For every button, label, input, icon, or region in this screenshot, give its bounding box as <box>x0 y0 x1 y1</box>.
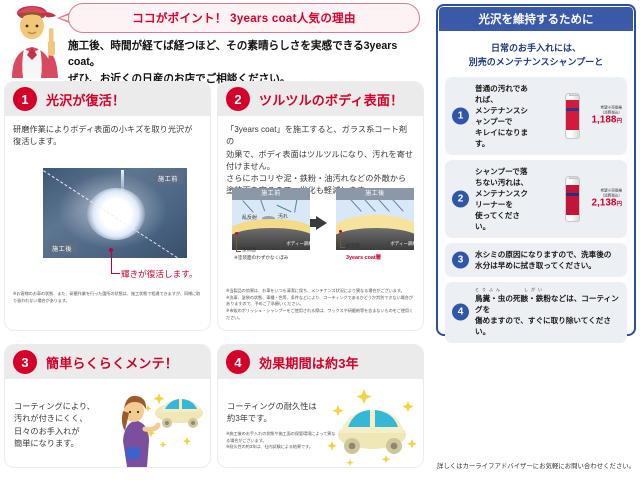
panel-1-title: 光沢が復活！ <box>46 90 125 109</box>
panel-3-badge: 3 <box>13 350 37 374</box>
price-unit-2: 円 <box>616 202 622 208</box>
maintenance-lead-1: 日常のお手入れには、 <box>442 41 630 55</box>
after-surface-tag: ボディー鋼板 <box>388 241 414 247</box>
panel-1-text: 研磨作業によりボディ表面の小キズを取り光沢が復活します。 <box>13 124 199 149</box>
maintenance-item-3-text-1: 水シミの原因になりますので、洗車後の <box>475 249 621 260</box>
label-diffuse-reflection: 乱反射 <box>242 214 257 221</box>
maintenance-item-2-price-block: 希望小売価格 （消費税込） 2,138円 <box>591 188 622 209</box>
photo-streak <box>121 170 124 198</box>
maintenance-item-2-text-2: メンテナンスクリーナーを <box>475 188 531 210</box>
panel-4-title: 効果期間は約3年 <box>259 353 359 372</box>
panel-2-header: 2 ツルツルのボディ表面！ <box>218 82 423 116</box>
panel-2-body: 「3years coat」を施工すると、ガラス系コート剤の 効果で、ボディ表面は… <box>218 116 423 330</box>
maintenance-lead-2: 別売のメンテナンスシャンプーと <box>442 55 630 69</box>
photo-tag-before: 施工前 <box>153 172 183 184</box>
panel-3-text-4: 簡単になります。 <box>14 438 104 450</box>
transition-arrow-icon <box>316 216 327 230</box>
panel-4-note-1: ※施工後のお手入れの状態や施工面の保管環境によって異なる場合がございます。 <box>226 431 336 444</box>
panel-4-note-2: ※耐久性の約3年は、社内試験による結果です。 <box>226 444 336 451</box>
maintenance-item-1-text-2: メンテナンスシャンプーで <box>475 105 531 127</box>
panel-2-note-3: ※市販のポリッシュ・シャンプーをご使用される際は、ワックスや研磨剤等を含まないも… <box>226 308 416 321</box>
panel-2-note-2: ※洗車、塗装の状態、車種・色等、条件などにより、コーティングであるかどうか判別で… <box>226 295 416 308</box>
shiny-car-illustration <box>324 383 420 467</box>
panel-1-header: 1 光沢が復活！ <box>5 82 210 116</box>
panel-1-body: 研磨作業によりボディ表面の小キズを取り光沢が復活します。 施工前 施工後 輝きが… <box>5 116 210 330</box>
maintenance-item-4-furigana: とりふん しがい <box>475 288 621 292</box>
panel-3-text: コーティングにより、 汚れが付きにくく、 日々のお手入れが 簡単になります。 <box>14 401 104 450</box>
maintenance-item-2: 2 シャンプーで落ちない汚れは、 メンテナンスクリーナーを 使ってください。 希… <box>445 160 627 238</box>
cleaner-bottle-image <box>565 176 580 222</box>
panel-2-title: ツルツルのボディ表面！ <box>259 90 403 109</box>
callout-text: 輝きが復活します。 <box>121 268 197 280</box>
bottle-stripe <box>566 108 579 111</box>
panel-4-body: コーティングの耐久性は 約3年です。 ※施工後のお手入れの状態や施工面の保管環境… <box>218 379 423 467</box>
panel-3-text-2: 汚れが付きにくく、 <box>14 413 104 425</box>
maintenance-item-4: 4 とりふん しがい 鳥糞・虫の死骸・鉄粉などは、コーティングを 傷めますので、… <box>445 282 627 343</box>
maintenance-item-2-badge: 2 <box>452 190 469 207</box>
maintenance-item-4-text-1: 鳥糞・虫の死骸・鉄粉などは、コーティングを <box>475 293 621 315</box>
label-paint-surface-right: 塗装面 <box>346 243 360 249</box>
panel-4-notes: ※施工後のお手入れの状態や施工面の保管環境によって異なる場合がございます。 ※耐… <box>226 431 336 451</box>
price-unit-1: 円 <box>616 119 622 125</box>
panel-3-header: 3 簡単らくらくメンテ！ <box>5 345 210 379</box>
leader-line-left <box>236 234 237 252</box>
maintenance-item-2-price: 2,138円 <box>591 198 622 209</box>
maintenance-item-2-text-3: 使ってください。 <box>475 210 531 232</box>
maintenance-item-3: 3 水シミの原因になりますので、洗車後の 水分は早めに拭き取ってください。 <box>445 243 627 277</box>
panel-2-note-1: ※当製品の効果は、お車をいつも清潔に保ち、メンテナンス状況により異なる場合がござ… <box>226 288 416 295</box>
maintenance-item-3-badge: 3 <box>452 251 469 268</box>
maintenance-item-3-text-2: 水分は早めに拭き取ってください。 <box>475 260 621 271</box>
woman-and-car-illustration <box>101 383 205 467</box>
callout-line <box>111 252 112 274</box>
panel-2-text-3: 付けません。 <box>226 161 415 173</box>
bottle-cap <box>569 93 578 96</box>
panel-1-note: ※お客様のお車の状態、また、研磨作業を行った箇所の状態は、施工状態で相違できます… <box>13 291 201 304</box>
maintenance-item-1-text-1: 普通の汚れであれば、 <box>475 83 531 105</box>
panel-4-text-2: 約3年です。 <box>227 413 332 425</box>
maintenance-item-2-text-1: シャンプーで落ちない汚れは、 <box>475 166 531 188</box>
maintenance-panel-title: 光沢を維持するために <box>439 7 633 31</box>
panel-gloss-revival: 1 光沢が復活！ 研磨作業によりボディ表面の小キズを取り光沢が復活します。 施工… <box>5 82 210 330</box>
maintenance-item-1-price-block: 希望小売価格 （消費税込） 1,188円 <box>591 105 622 126</box>
cross-section-before: ボディー鋼板 施工前 乱反射 汚れ <box>232 188 310 250</box>
shampoo-bottle-image <box>565 93 580 139</box>
speech-bubble: ココがポイント！ 3years coat人気の理由 <box>68 3 420 33</box>
maintenance-lead: 日常のお手入れには、 別売のメンテナンスシャンプーと <box>438 32 634 77</box>
footer-note: 詳しくはカーライフアドバイザーにお気軽にお問い合わせください。 <box>434 461 638 470</box>
label-paint-dimple: ※塗装面のわずかなくぼみ <box>234 255 288 261</box>
panel-4-header: 4 効果期間は約3年 <box>218 345 423 379</box>
label-dirt: 汚れ <box>278 213 288 220</box>
bottle-cap-2 <box>569 176 578 179</box>
panel-3-text-3: 日々のお手入れが <box>14 426 104 438</box>
panel-2-badge: 2 <box>226 87 250 111</box>
panel-1-badge: 1 <box>13 87 37 111</box>
panel-duration: 4 効果期間は約3年 コーティングの耐久性は 約3年です。 ※施工後のお手入れの… <box>218 345 423 467</box>
maintenance-item-1-text-3: キレイになります。 <box>475 127 531 149</box>
callout-elbow <box>111 273 120 274</box>
panel-4-badge: 4 <box>226 350 250 374</box>
panel-2-text-1: 「3years coat」を施工すると、ガラス系コート剤の <box>226 124 415 149</box>
before-head-label: 施工前 <box>232 188 310 200</box>
page-root: ココがポイント！ 3years coat人気の理由 施工後、時間が経てば経つほど… <box>0 0 640 480</box>
bottle-stripe-2 <box>566 193 579 196</box>
coating-cross-section-diagram: ボディー鋼板 施工前 乱反射 汚れ <box>226 188 423 264</box>
panel-3-body: コーティングにより、 汚れが付きにくく、 日々のお手入れが 簡単になります。 <box>5 379 210 467</box>
after-head-label: 施工後 <box>336 188 414 200</box>
leader-elbow-right <box>340 247 345 248</box>
panel-3-title: 簡単らくらくメンテ！ <box>46 353 178 372</box>
label-paint-surface-left: 塗装面 <box>242 247 256 253</box>
panel-2-notes: ※当製品の効果は、お車をいつも清潔に保ち、メンテナンス状況により異なる場合がござ… <box>226 288 416 322</box>
leader-elbow-left <box>236 251 241 252</box>
header: ココがポイント！ 3years coat人気の理由 施工後、時間が経てば経つほど… <box>0 0 430 78</box>
panel-easy-maintenance: 3 簡単らくらくメンテ！ コーティングにより、 汚れが付きにくく、 日々のお手入… <box>5 345 210 467</box>
panel-3-text-1: コーティングにより、 <box>14 401 104 413</box>
maintenance-item-4-badge: 4 <box>452 304 469 321</box>
lead-line-1: 施工後、時間が経てば経つほど、その素晴らしさを実感できる3years coat。 <box>68 38 428 71</box>
maintenance-item-1-badge: 1 <box>452 107 469 124</box>
maintenance-item-1: 1 普通の汚れであれば、 メンテナンスシャンプーで キレイになります。 希望小売… <box>445 77 627 155</box>
photo-tag-after: 施工後 <box>47 242 77 254</box>
bottle-label-2 <box>566 185 579 215</box>
lead-paragraph: 施工後、時間が経てば経つほど、その素晴らしさを実感できる3years coat。… <box>68 38 428 87</box>
leader-line-right <box>340 232 341 248</box>
panel-smooth-surface: 2 ツルツルのボディ表面！ 「3years coat」を施工すると、ガラス系コー… <box>218 82 423 330</box>
cross-section-after: ボディー鋼板 施工後 <box>336 188 414 250</box>
panel-2-text-4: さらにホコリや泥・鉄粉・油汚れなどの外敵から <box>226 173 415 185</box>
panel-4-text-1: コーティングの耐久性は <box>227 401 332 413</box>
maintenance-item-4-text-2: 傷めますので、すぐに取り除いてください。 <box>475 315 621 337</box>
bottle-label <box>566 100 579 130</box>
price-value-2: 2,138 <box>591 198 616 209</box>
before-surface-tag: ボディー鋼板 <box>284 241 310 247</box>
bubble-text: ココがポイント！ 3years coat人気の理由 <box>132 10 356 26</box>
before-after-photo: 施工前 施工後 <box>43 168 187 258</box>
price-value-1: 1,188 <box>591 115 616 126</box>
maintenance-item-1-price: 1,188円 <box>591 115 622 126</box>
panel-2-text-2: 効果で、ボディ表面はツルツルになり、汚れを寄せ <box>226 149 415 161</box>
label-coat-layer: 3years coat層 <box>346 253 381 261</box>
maintenance-panel: 光沢を維持するために 日常のお手入れには、 別売のメンテナンスシャンプーと 1 … <box>436 4 636 336</box>
panel-4-text: コーティングの耐久性は 約3年です。 <box>227 401 332 426</box>
